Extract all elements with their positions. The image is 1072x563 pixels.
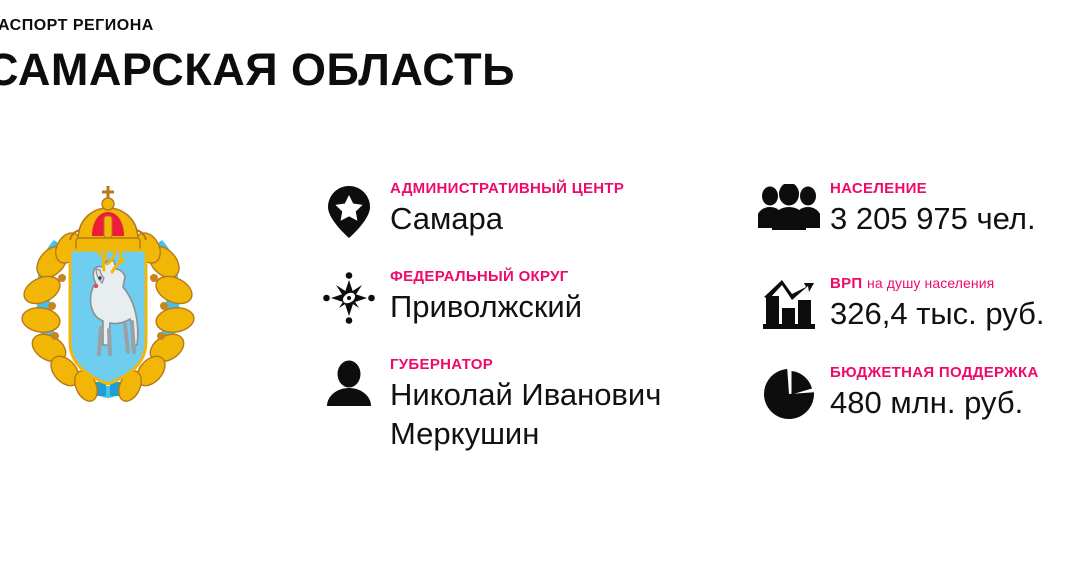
info-row-administrative-center: АДМИНИСТРАТИВНЫЙ ЦЕНТР Самара bbox=[318, 180, 678, 246]
region-passport-card: ПАСПОРТ РЕГИОНА САМАРСКАЯ ОБЛАСТЬ bbox=[0, 0, 1072, 563]
bar-chart-growth-icon bbox=[758, 274, 820, 340]
info-label: ВРП на душу населения bbox=[830, 274, 1045, 293]
map-pin-star-icon bbox=[318, 180, 380, 246]
info-row-population: НАСЕЛЕНИЕ 3 205 975 чел. bbox=[758, 180, 1072, 246]
info-meta: АДМИНИСТРАТИВНЫЙ ЦЕНТР Самара bbox=[380, 180, 624, 238]
pie-chart-icon bbox=[758, 364, 820, 430]
info-row-federal-district: ФЕДЕРАЛЬНЫЙ ОКРУГ Приволжский bbox=[318, 268, 678, 334]
compass-rose-icon bbox=[318, 268, 380, 334]
info-meta: ФЕДЕРАЛЬНЫЙ ОКРУГ Приволжский bbox=[380, 268, 582, 326]
info-value: Самара bbox=[390, 199, 624, 238]
info-label: ГУБЕРНАТОР bbox=[390, 356, 678, 374]
info-label-sub: на душу населения bbox=[867, 275, 994, 291]
person-bust-icon bbox=[318, 356, 380, 422]
coat-of-arms bbox=[8, 178, 208, 408]
info-meta: НАСЕЛЕНИЕ 3 205 975 чел. bbox=[820, 180, 1036, 238]
info-label: АДМИНИСТРАТИВНЫЙ ЦЕНТР bbox=[390, 180, 624, 198]
info-meta: ГУБЕРНАТОР Николай Иванович Меркушин bbox=[380, 356, 678, 453]
info-label: БЮДЖЕТНАЯ ПОДДЕРЖКА bbox=[830, 364, 1039, 382]
header: ПАСПОРТ РЕГИОНА САМАРСКАЯ ОБЛАСТЬ bbox=[0, 16, 1072, 98]
info-value: Николай Иванович Меркушин bbox=[390, 375, 678, 453]
info-value: 326,4 тыс. руб. bbox=[830, 294, 1045, 333]
info-meta: ВРП на душу населения 326,4 тыс. руб. bbox=[820, 274, 1045, 333]
info-row-grp-per-capita: ВРП на душу населения 326,4 тыс. руб. bbox=[758, 274, 1072, 340]
info-value: 3 205 975 чел. bbox=[830, 199, 1036, 238]
info-value: Приволжский bbox=[390, 287, 582, 326]
page-title: САМАРСКАЯ ОБЛАСТЬ bbox=[0, 42, 1072, 98]
info-label: ФЕДЕРАЛЬНЫЙ ОКРУГ bbox=[390, 268, 582, 286]
info-column-right: НАСЕЛЕНИЕ 3 205 975 чел. bbox=[758, 180, 1072, 452]
info-meta: БЮДЖЕТНАЯ ПОДДЕРЖКА 480 млн. руб. bbox=[820, 364, 1039, 422]
info-column-left: АДМИНИСТРАТИВНЫЙ ЦЕНТР Самара bbox=[318, 180, 678, 475]
page-kicker: ПАСПОРТ РЕГИОНА bbox=[0, 16, 1072, 36]
info-label-main: ВРП bbox=[830, 275, 863, 292]
info-row-budget-support: БЮДЖЕТНАЯ ПОДДЕРЖКА 480 млн. руб. bbox=[758, 364, 1072, 430]
info-value: 480 млн. руб. bbox=[830, 383, 1039, 422]
group-of-people-icon bbox=[758, 180, 820, 246]
info-row-governor: ГУБЕРНАТОР Николай Иванович Меркушин bbox=[318, 356, 678, 453]
info-label: НАСЕЛЕНИЕ bbox=[830, 180, 1036, 198]
